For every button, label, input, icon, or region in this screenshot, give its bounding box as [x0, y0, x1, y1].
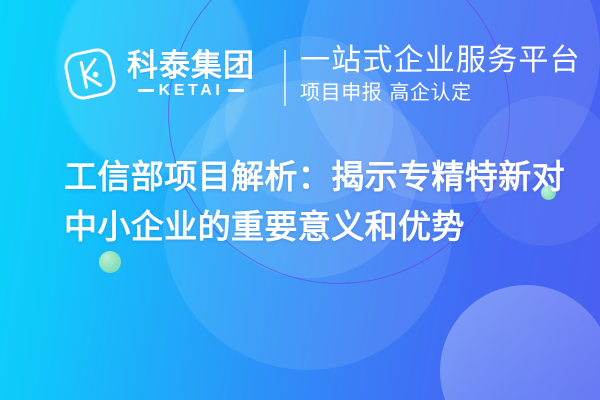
logo-wordmark: 科泰集团 KETAI	[127, 50, 255, 99]
large-circle-bottom-right	[440, 285, 600, 400]
logo-dash-right-icon	[228, 89, 244, 92]
logo-en-row: KETAI	[127, 83, 255, 99]
tagline-secondary: 项目申报 高企认定	[300, 80, 581, 104]
tagline-primary: 一站式企业服务平台	[300, 44, 581, 78]
logo-company-name-en: KETAI	[159, 83, 224, 99]
green-dot-left	[99, 251, 121, 273]
company-logo: 科泰集团 KETAI	[62, 46, 255, 102]
logo-dash-left-icon	[138, 89, 154, 92]
headline-line-2: 中小企业的重要意义和优势	[64, 202, 574, 252]
logo-company-name-cn: 科泰集团	[127, 50, 255, 81]
ketai-k-monogram-icon	[62, 46, 118, 102]
header-divider	[284, 50, 286, 106]
banner-header: 科泰集团 KETAI 一站式企业服务平台 项目申报 高企认定	[0, 0, 600, 140]
promo-banner: 科泰集团 KETAI 一站式企业服务平台 项目申报 高企认定 工信部项目解析：揭…	[0, 0, 600, 400]
header-tagline: 一站式企业服务平台 项目申报 高企认定	[300, 44, 581, 104]
headline-line-1: 工信部项目解析：揭示专精特新对	[64, 152, 574, 202]
headline-block: 工信部项目解析：揭示专精特新对 中小企业的重要意义和优势	[64, 152, 574, 252]
